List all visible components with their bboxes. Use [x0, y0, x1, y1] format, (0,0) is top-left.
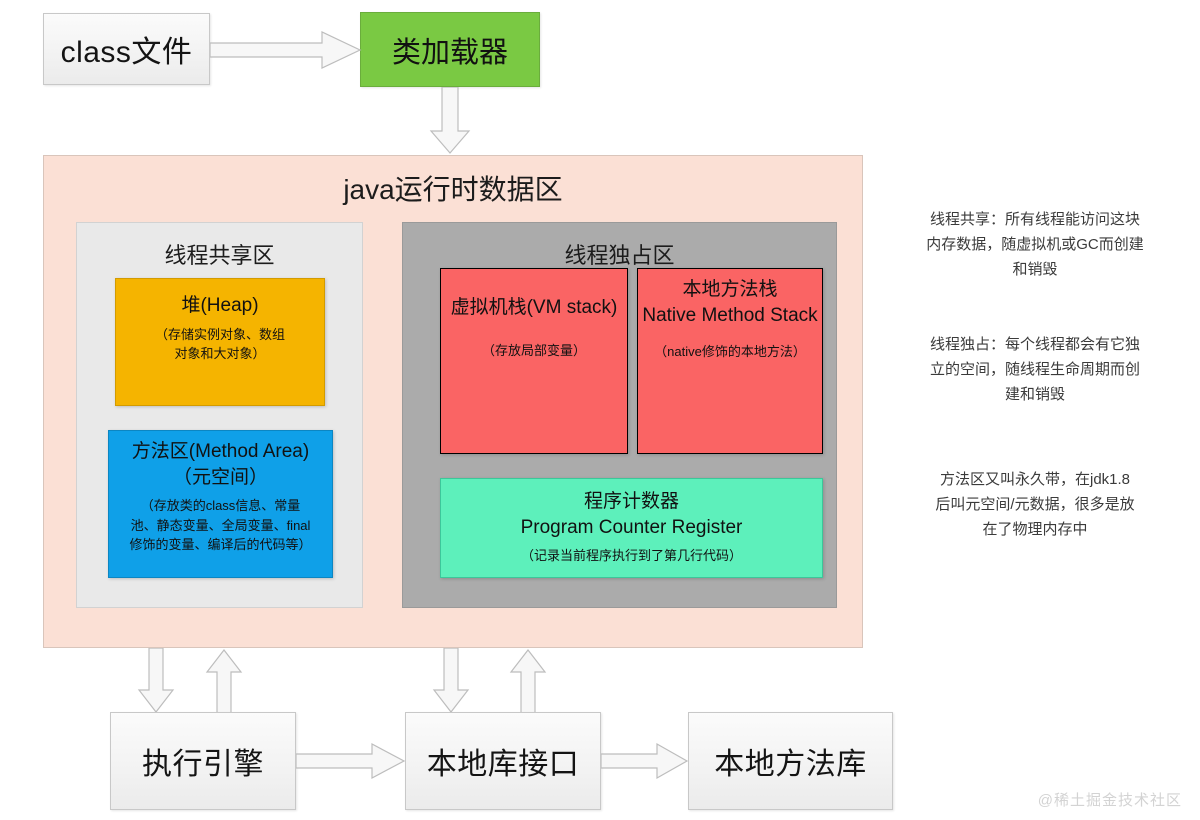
- watermark: @稀土掘金技术社区: [1038, 789, 1182, 810]
- panel-thread-exclusive-title: 线程独占区: [402, 238, 837, 270]
- note-thread-shared: 线程共享：所有线程能访问这块 内存数据，随虚拟机或GC而创建 和销毁: [895, 208, 1175, 282]
- node-class-file[interactable]: class文件: [43, 13, 210, 85]
- note-thread-exclusive-line1: 线程独占：每个线程都会有它独: [895, 333, 1175, 358]
- arrow-native-interface-to-method-library: [601, 742, 689, 780]
- diagram-canvas: class文件 类加载器 java运行时数据区 线程共享区 堆(Heap) （存…: [0, 0, 1200, 820]
- note-method-area-line1: 方法区又叫永久带，在jdk1.8: [895, 468, 1175, 493]
- arrow-runtime-to-native-interface-down: [432, 648, 470, 714]
- note-method-area-line3: 在了物理内存中: [895, 518, 1175, 543]
- arrow-runtime-to-engine-down: [137, 648, 175, 714]
- node-native-method-library-label: 本地方法库: [714, 739, 867, 783]
- memory-native-method-stack-title-en: Native Method Stack: [642, 303, 817, 329]
- arrow-engine-to-runtime-up: [205, 648, 243, 714]
- arrow-native-interface-to-runtime-up: [509, 648, 547, 714]
- arrow-engine-to-native-interface: [296, 742, 406, 780]
- note-thread-exclusive: 线程独占：每个线程都会有它独 立的空间，随线程生命周期而创 建和销毁: [895, 333, 1175, 407]
- node-execution-engine-label: 执行引擎: [142, 739, 264, 783]
- memory-program-counter-title-en: Program Counter Register: [521, 515, 743, 541]
- memory-method-area-title: 方法区(Method Area): [132, 439, 309, 465]
- memory-heap[interactable]: 堆(Heap) （存储实例对象、数组 对象和大对象）: [115, 278, 325, 406]
- memory-heap-desc-line2: 对象和大对象）: [174, 344, 265, 364]
- memory-program-counter-desc: （记录当前程序执行到了第几行代码）: [521, 546, 742, 566]
- note-thread-shared-line2: 内存数据，随虚拟机或GC而创建: [895, 233, 1175, 258]
- node-execution-engine[interactable]: 执行引擎: [110, 712, 296, 810]
- runtime-data-area-title: java运行时数据区: [43, 168, 863, 208]
- memory-program-counter-title-cn: 程序计数器: [584, 489, 679, 515]
- memory-heap-title: 堆(Heap): [181, 293, 258, 319]
- note-thread-exclusive-line2: 立的空间，随线程生命周期而创: [895, 358, 1175, 383]
- memory-native-method-stack[interactable]: 本地方法栈 Native Method Stack （native修饰的本地方法…: [637, 268, 823, 454]
- memory-method-area-desc-line1: （存放类的class信息、常量: [141, 496, 301, 516]
- memory-vm-stack-title: 虚拟机栈(VM stack): [451, 295, 618, 321]
- arrow-classfile-to-loader: [210, 30, 362, 70]
- node-native-library-interface[interactable]: 本地库接口: [405, 712, 601, 810]
- panel-thread-shared-title: 线程共享区: [76, 238, 363, 270]
- note-thread-shared-line3: 和销毁: [895, 258, 1175, 283]
- memory-vm-stack[interactable]: 虚拟机栈(VM stack) （存放局部变量）: [440, 268, 628, 454]
- node-native-library-interface-label: 本地库接口: [427, 739, 580, 783]
- memory-method-area-subtitle: （元空间）: [173, 465, 268, 491]
- memory-native-method-stack-desc: （native修饰的本地方法）: [654, 342, 806, 362]
- memory-heap-desc-line1: （存储实例对象、数组: [155, 325, 285, 345]
- note-thread-shared-line1: 线程共享：所有线程能访问这块: [895, 208, 1175, 233]
- note-thread-exclusive-line3: 建和销毁: [895, 383, 1175, 408]
- memory-native-method-stack-title-cn: 本地方法栈: [682, 277, 777, 303]
- arrow-loader-to-runtime: [428, 87, 472, 155]
- memory-method-area-desc-line2: 池、静态变量、全局变量、final: [131, 516, 311, 536]
- node-class-loader-label: 类加载器: [392, 29, 508, 71]
- note-method-area-line2: 后叫元空间/元数据，很多是放: [895, 493, 1175, 518]
- memory-vm-stack-desc: （存放局部变量）: [482, 341, 586, 361]
- memory-method-area-desc-line3: 修饰的变量、编译后的代码等）: [129, 535, 311, 555]
- note-method-area: 方法区又叫永久带，在jdk1.8 后叫元空间/元数据，很多是放 在了物理内存中: [895, 468, 1175, 542]
- node-class-loader[interactable]: 类加载器: [360, 12, 540, 87]
- node-native-method-library[interactable]: 本地方法库: [688, 712, 893, 810]
- memory-program-counter[interactable]: 程序计数器 Program Counter Register （记录当前程序执行…: [440, 478, 823, 578]
- node-class-file-label: class文件: [61, 27, 193, 71]
- memory-method-area[interactable]: 方法区(Method Area) （元空间） （存放类的class信息、常量 池…: [108, 430, 333, 578]
